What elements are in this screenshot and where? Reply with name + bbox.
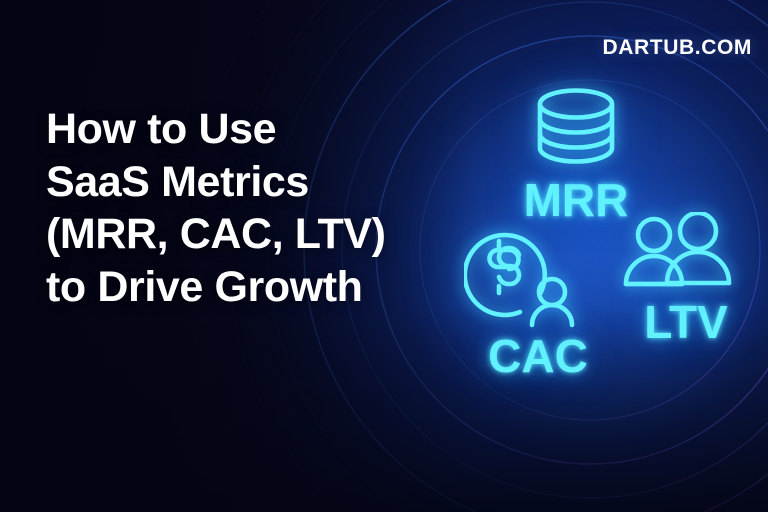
database-cylinder-icon	[496, 86, 656, 175]
metric-ltv: LTV	[616, 212, 756, 349]
page-title-line-3: (MRR, CAC, LTV)	[46, 208, 446, 261]
dollar-circle-person-icon	[464, 228, 612, 333]
metric-cac: CAC	[464, 228, 612, 383]
page-title-line-1: How to Use	[46, 103, 446, 156]
metric-mrr: MRR	[496, 86, 656, 227]
page-title-line-4: to Drive Growth	[46, 261, 446, 314]
two-people-group-icon	[616, 212, 756, 297]
metric-cac-label: CAC	[464, 329, 612, 383]
metric-ltv-label: LTV	[616, 295, 756, 349]
banner-canvas: DARTUB.COM How to Use SaaS Metrics (MRR,…	[0, 0, 768, 512]
page-title: How to Use SaaS Metrics (MRR, CAC, LTV) …	[46, 103, 446, 314]
brand-watermark: DARTUB.COM	[603, 36, 752, 60]
page-title-line-2: SaaS Metrics	[46, 156, 446, 209]
